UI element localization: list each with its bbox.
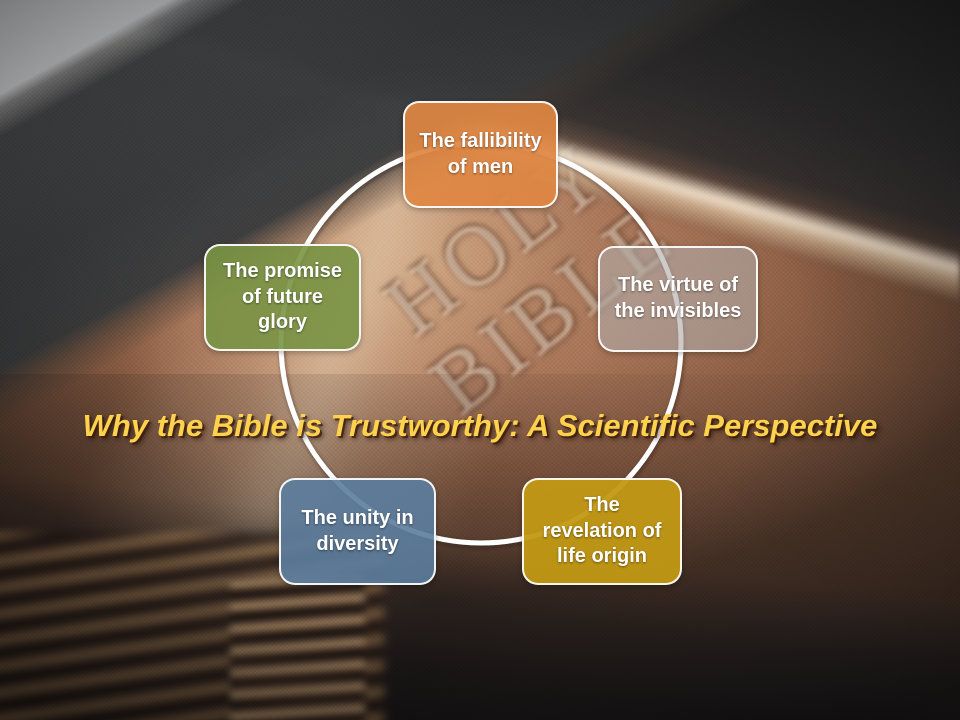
cycle-node-unity-in-diversity[interactable]: The unity in diversity [279, 478, 436, 585]
cycle-node-label: The fallibility of men [417, 129, 544, 180]
cycle-node-fallibility-of-men[interactable]: The fallibility of men [403, 101, 558, 208]
cycle-node-label: The promise of future glory [218, 259, 347, 336]
cycle-node-promise-of-future-glory[interactable]: The promise of future glory [204, 244, 361, 351]
slide-title: Why the Bible is Trustworthy: A Scientif… [0, 408, 960, 444]
cycle-node-label: The unity in diversity [293, 506, 422, 557]
cycle-node-revelation-of-life-origin[interactable]: The revelation of life origin [522, 478, 682, 585]
cycle-node-label: The revelation of life origin [536, 493, 668, 570]
slide-canvas: HOLY BIBLE The fallibility of men The vi… [0, 0, 960, 720]
cycle-node-label: The virtue of the invisibles [612, 273, 744, 324]
cycle-node-virtue-of-the-invisibles[interactable]: The virtue of the invisibles [598, 246, 758, 352]
